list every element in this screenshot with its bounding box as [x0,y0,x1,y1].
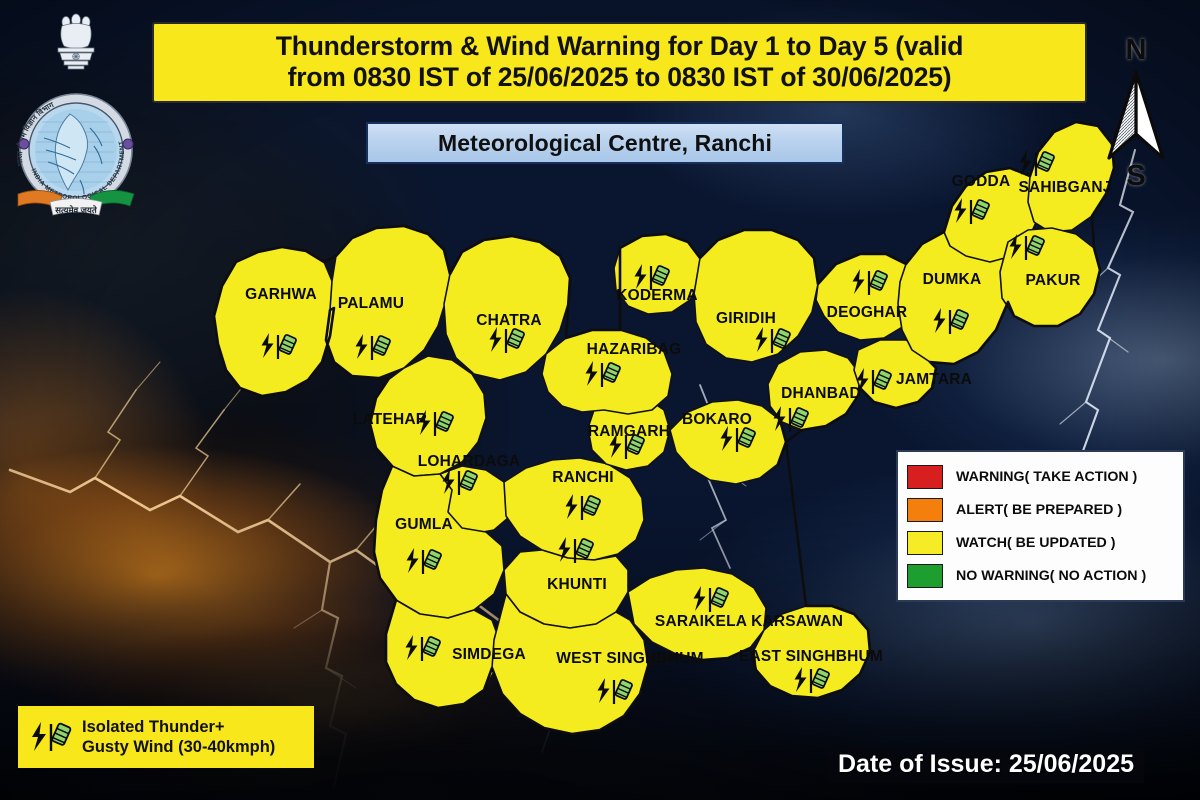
thunder-wind-symbol-chatra [485,326,529,356]
legend-color-swatch [907,564,943,588]
imd-logo-icon: भारत मौसम विज्ञान विभाग INDIA METEOROLOG… [12,88,140,218]
subtitle-text: Meteorological Centre, Ranchi [438,130,772,157]
thunder-wind-symbol-koderma [630,263,674,293]
lightning-bolt-icon [32,722,46,751]
thunder-wind-symbol-gumla [402,547,446,577]
district-label-east-singhbhum: EAST SINGHBHUM [739,648,883,666]
thunder-wind-symbol-khunti [554,536,598,566]
thunder-and-wind-icon [28,720,76,754]
district-label-saraikela-karsawan: SARAIKELA KARSAWAN [655,613,843,631]
symbol-key-text: Isolated Thunder+ Gusty Wind (30-40kmph) [82,717,275,758]
symbol-key-line-1: Isolated Thunder+ [82,717,275,737]
legend-label: ALERT( BE PREPARED ) [956,502,1122,518]
thunder-wind-symbol-palamu [351,333,395,363]
thunder-wind-symbol-dhanbad [769,405,813,435]
thunder-wind-symbol-godda [950,197,994,227]
thunder-wind-symbol-bokaro [716,425,760,455]
thunder-wind-symbol-giridih [751,326,795,356]
legend-label: WARNING( TAKE ACTION ) [956,469,1137,485]
legend-row: ALERT( BE PREPARED ) [907,493,1174,526]
district-label-pakur: PAKUR [1026,272,1081,290]
thunder-wind-symbol-ranchi [561,493,605,523]
thunder-wind-symbol-garhwa [257,332,301,362]
legend-color-swatch [907,531,943,555]
state-emblem-of-india-icon [46,8,106,88]
thunder-wind-symbol-east-singhbhum [790,666,834,696]
legend-row: WATCH( BE UPDATED ) [907,526,1174,559]
district-label-deoghar: DEOGHAR [827,304,908,322]
thunder-wind-symbol-latehar [414,409,458,439]
imd-logo-motto: सत्यमेव जयते [54,205,98,215]
symbol-key-box: Isolated Thunder+ Gusty Wind (30-40kmph) [18,706,314,768]
district-label-simdega: SIMDEGA [452,646,526,664]
legend-row: NO WARNING( NO ACTION ) [907,559,1174,592]
district-label-garhwa: GARHWA [245,286,317,304]
title-line-1: Thunderstorm & Wind Warning for Day 1 to… [164,31,1075,62]
thunder-wind-symbol-lohardaga [438,468,482,498]
thunder-wind-symbol-simdega [401,634,445,664]
subtitle-banner: Meteorological Centre, Ranchi [366,122,844,164]
legend-row: WARNING( TAKE ACTION ) [907,460,1174,493]
legend-color-swatch [907,465,943,489]
north-arrow-icon [1106,70,1166,162]
thunder-wind-symbol-pakur [1005,233,1049,263]
legend-label: NO WARNING( NO ACTION ) [956,568,1146,584]
district-label-dumka: DUMKA [923,271,982,289]
thunder-wind-symbol-ramgarh [605,432,649,462]
district-label-godda: GODDA [952,173,1011,191]
district-label-jamtara: JAMTARA [896,371,972,389]
compass-north-label: N [1088,34,1184,67]
thunder-wind-symbol-deoghar [848,268,892,298]
thunder-wind-symbol-jamtara [852,367,896,397]
legend-label: WATCH( BE UPDATED ) [956,535,1115,551]
symbol-key-line-2: Gusty Wind (30-40kmph) [82,737,275,757]
title-line-2: from 0830 IST of 25/06/2025 to 0830 IST … [164,62,1075,93]
date-of-issue: Date of Issue: 25/06/2025 [828,748,1144,783]
district-label-hazaribag: HAZARIBAG [587,341,682,359]
district-label-dhanbad: DHANBAD [781,385,861,403]
compass-rose: N S [1088,34,1184,204]
thunder-wind-symbol-dumka [929,307,973,337]
thunder-wind-symbol-saraikela-karsawan [689,585,733,615]
thunder-wind-symbol-west-singhbhum [593,677,637,707]
thunder-wind-symbol-hazaribag [581,360,625,390]
title-banner: Thunderstorm & Wind Warning for Day 1 to… [152,22,1087,103]
district-label-gumla: GUMLA [395,516,453,534]
district-label-west-singhbhum: WEST SINGHBHUM [556,650,703,668]
district-label-palamu: PALAMU [338,295,404,313]
district-label-khunti: KHUNTI [547,576,607,594]
district-label-ranchi: RANCHI [552,469,613,487]
warning-level-legend: WARNING( TAKE ACTION )ALERT( BE PREPARED… [896,450,1185,602]
legend-color-swatch [907,498,943,522]
warning-map-poster: GARHWA PALAMU CHATRA LATEHAR LOHARDAGA G… [0,0,1200,800]
compass-south-label: S [1088,160,1184,193]
windsock-icon [52,723,72,746]
thunder-wind-symbol-sahibganj [1015,149,1059,179]
